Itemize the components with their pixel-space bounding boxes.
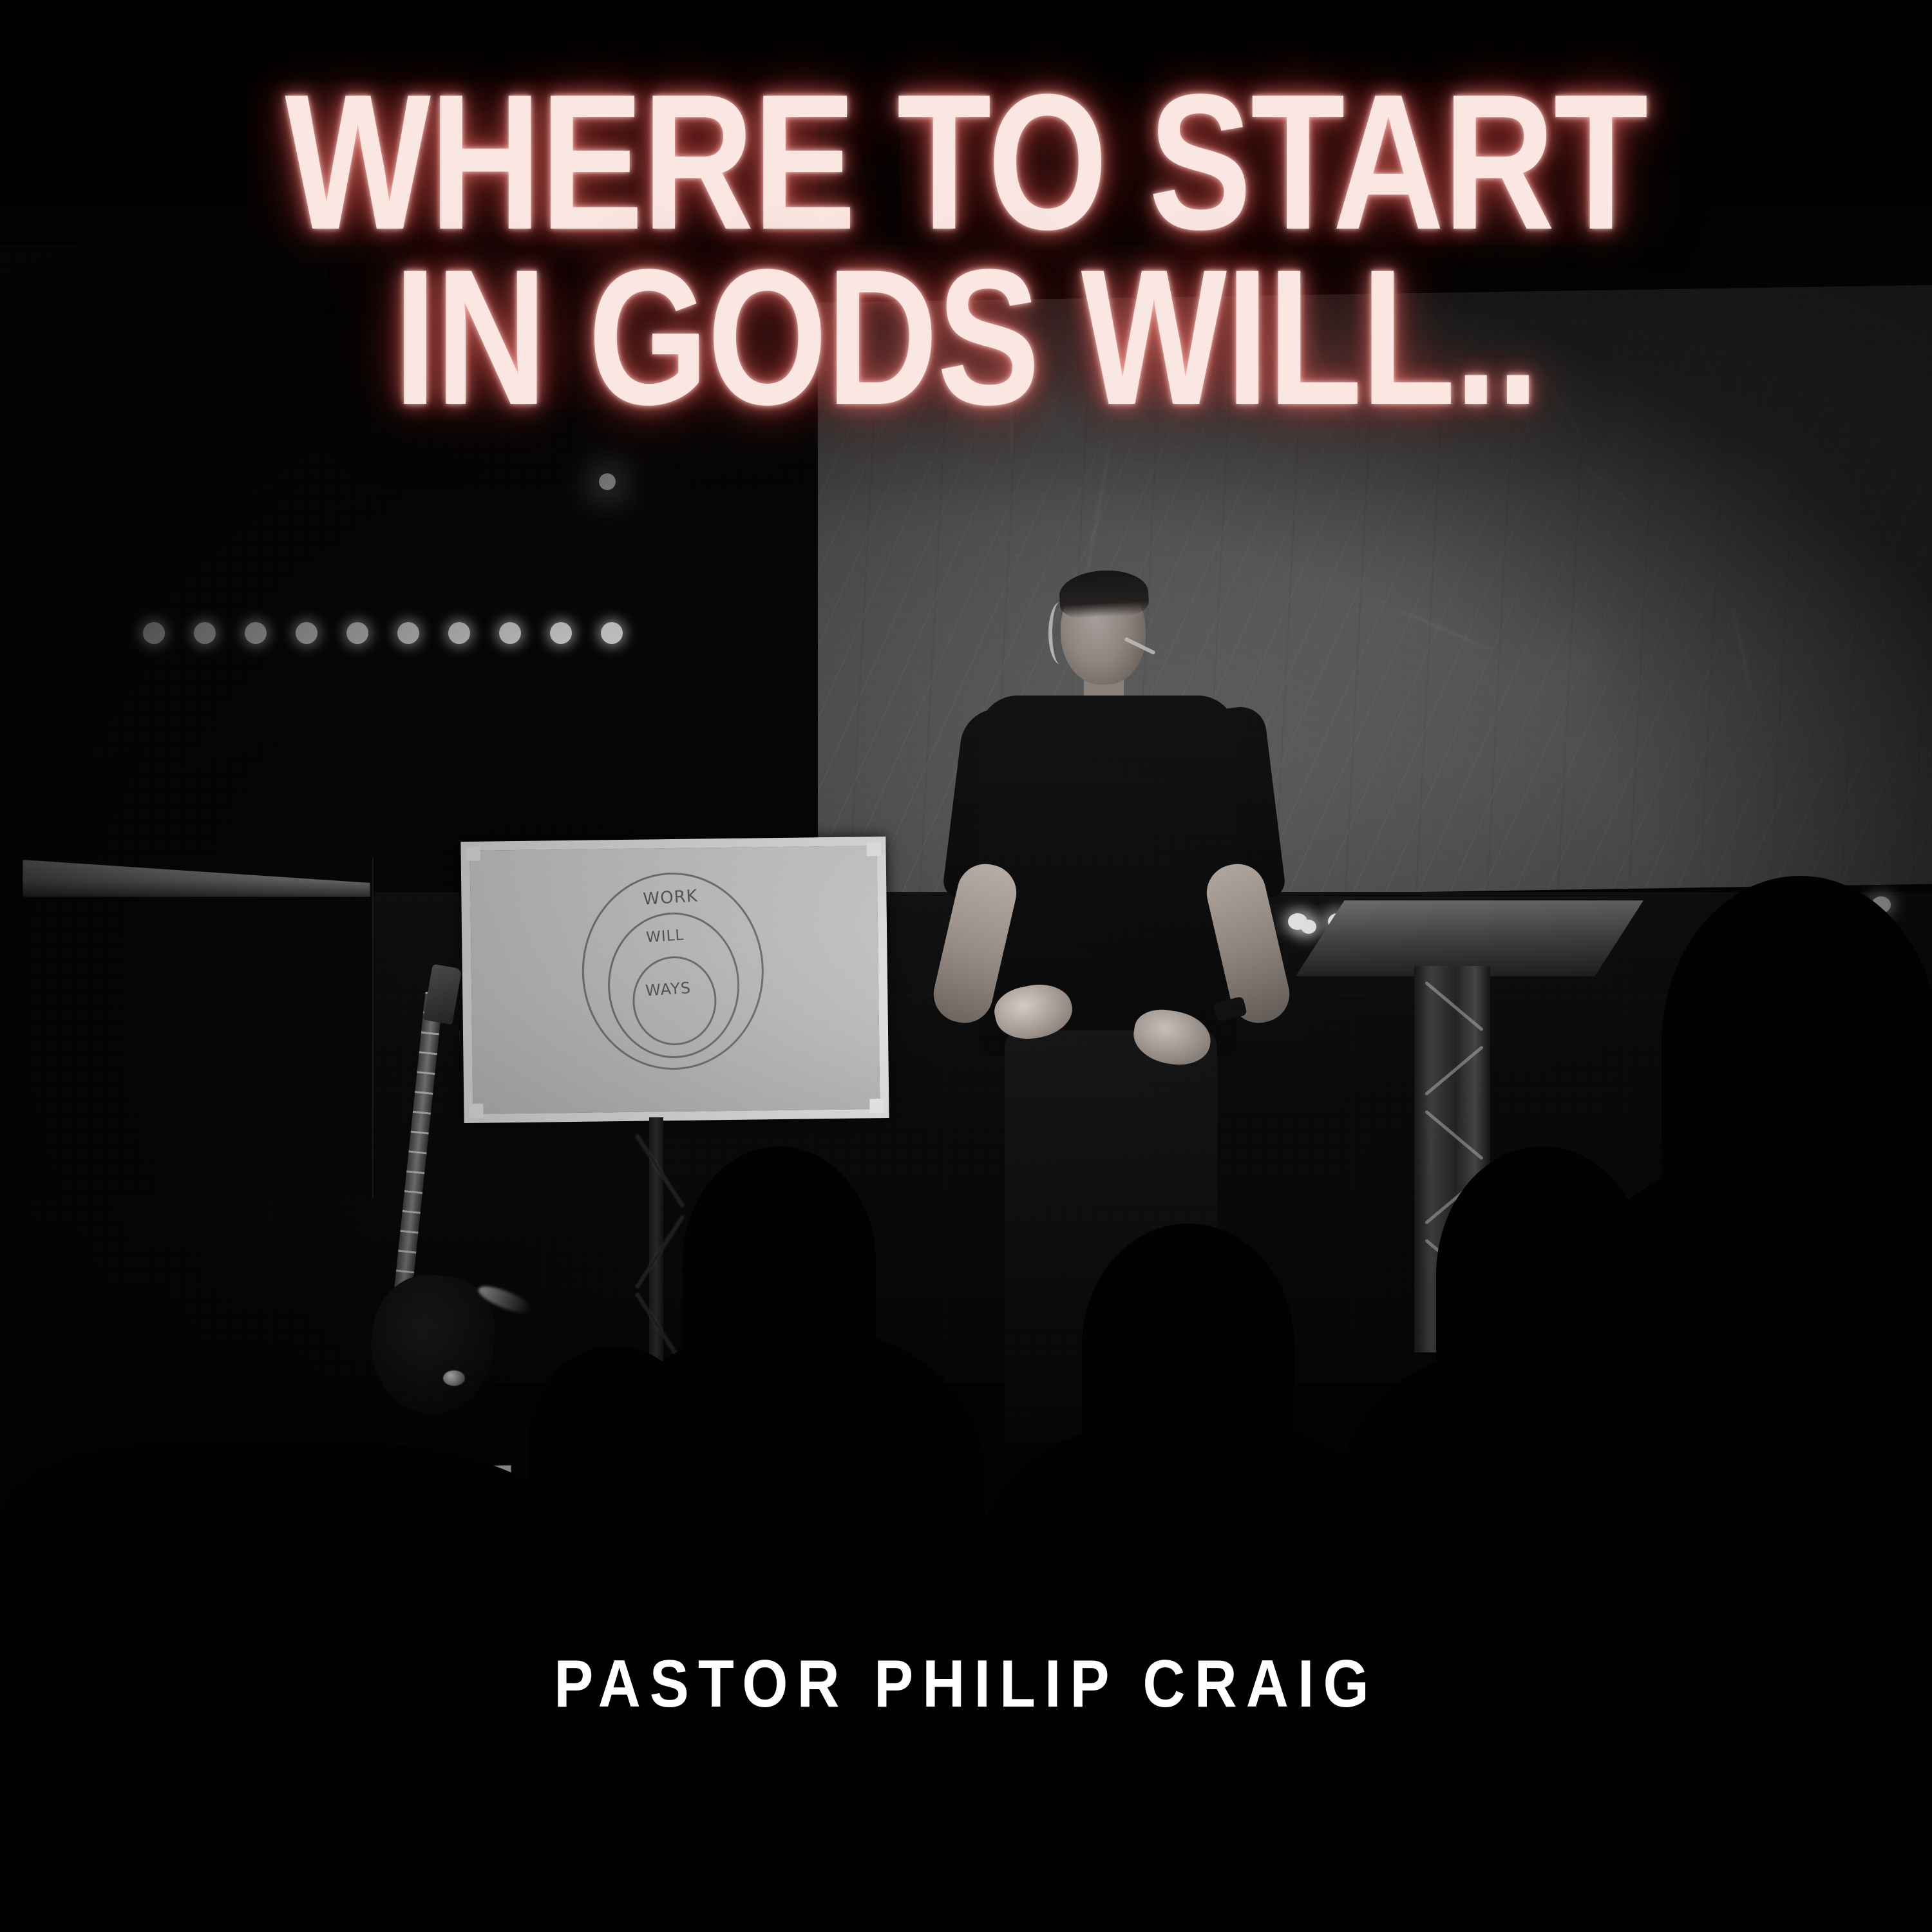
truss-brace xyxy=(1425,1110,1484,1160)
whiteboard-corner xyxy=(869,1099,884,1113)
title-line-1: WHERE TO START xyxy=(193,79,1739,245)
stage-light-bulb xyxy=(448,622,470,644)
audience-shoulders xyxy=(1546,1153,1932,1604)
bass-guitar-knob xyxy=(443,1370,465,1386)
stage-light-bulb xyxy=(194,622,216,644)
whiteboard-corner xyxy=(866,842,880,856)
title-line-2: IN GODS WILL.. xyxy=(193,254,1739,420)
whiteboard-label-work: WORK xyxy=(643,886,699,909)
truss-brace xyxy=(1425,981,1484,1031)
backline-light xyxy=(1301,920,1316,934)
stage-light-bulb xyxy=(397,622,419,644)
poster-title: WHERE TO START IN GODS WILL.. xyxy=(0,79,1932,420)
whiteboard-corner xyxy=(469,1104,483,1118)
truss-brace xyxy=(1425,1045,1484,1095)
stage-light-bulb xyxy=(550,622,572,644)
headset-mic-band-icon xyxy=(1048,602,1072,664)
stage-light-bulb xyxy=(245,622,267,644)
stage-lamp-flare xyxy=(599,473,616,490)
stage-left-panel xyxy=(0,857,374,1198)
stage-light-bulb xyxy=(601,622,623,644)
sermon-poster: WORK WILL WAYS xyxy=(0,0,1932,1932)
whiteboard-corner xyxy=(466,847,480,861)
whiteboard-label-will: WILL xyxy=(645,927,685,946)
stage-light-bulb xyxy=(143,622,165,644)
stage-light-bulb xyxy=(346,622,368,644)
stage-light-bulb xyxy=(296,622,317,644)
whiteboard: WORK WILL WAYS xyxy=(460,837,889,1123)
whiteboard-label-ways: WAYS xyxy=(645,979,692,1000)
truss-podium-top xyxy=(1296,900,1643,976)
bottom-black-band xyxy=(0,1579,1932,1932)
stage-light-bulb xyxy=(499,622,521,644)
stage-light-row xyxy=(143,622,623,644)
speaker-byline: PASTOR PHILIP CRAIG xyxy=(116,1646,1816,1723)
